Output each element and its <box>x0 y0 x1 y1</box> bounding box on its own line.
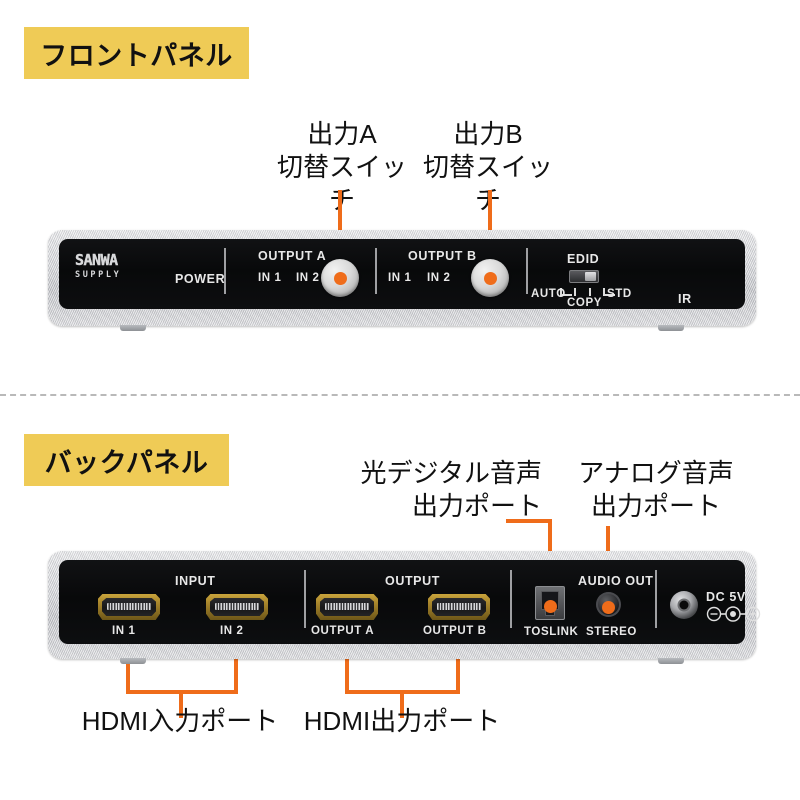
label-edid-copy: COPY <box>567 297 602 309</box>
label-output-a-in2: IN 2 <box>296 272 320 284</box>
separator-1 <box>224 248 226 294</box>
back-panel-section-tag: バックパネル <box>24 434 229 486</box>
label-in2: IN 2 <box>220 625 244 637</box>
dc-polarity-icon <box>706 606 762 622</box>
callout-hdmi-input-ports: HDMI入力ポート <box>74 705 286 738</box>
callout-output-a-switch: 出力A 切替スイッチ <box>272 118 412 216</box>
front-panel-section-tag: フロントパネル <box>24 27 249 79</box>
leader-line-optical-h <box>506 519 552 523</box>
label-audio-out-group: AUDIO OUT <box>578 574 654 588</box>
leader-dot-analog <box>602 601 615 614</box>
label-output-b-in2: IN 2 <box>427 272 451 284</box>
brand-logo-line2: SUPPLY <box>75 270 121 280</box>
back-separator-1 <box>304 570 306 628</box>
product-diagram: フロントパネル 出力A 切替スイッチ 出力B 切替スイッチ SANWA SUPP… <box>0 0 800 800</box>
label-output-group: OUTPUT <box>385 574 440 588</box>
callout-optical-audio-out: 光デジタル音声 出力ポート <box>330 457 542 523</box>
back-separator-2 <box>510 570 512 628</box>
label-edid: EDID <box>567 252 599 266</box>
label-output-a-port: OUTPUT A <box>311 625 374 637</box>
label-output-a-in1: IN 1 <box>258 272 282 284</box>
label-dc-5v: DC 5V <box>706 590 746 604</box>
label-ir-receiver: IR <box>678 292 692 306</box>
label-edid-auto: AUTO <box>531 288 566 300</box>
device-foot-right <box>658 325 684 331</box>
hdmi-port-in1[interactable] <box>98 594 160 620</box>
section-divider <box>0 394 800 396</box>
callout-analog-audio-out: アナログ音声 出力ポート <box>558 457 754 523</box>
back-device-foot-right <box>658 658 684 664</box>
label-in1: IN 1 <box>112 625 136 637</box>
brand-logo-line1: SANWA <box>75 251 121 269</box>
back-device-foot-left <box>120 658 146 664</box>
brand-logo: SANWA SUPPLY <box>75 251 121 280</box>
label-input-group: INPUT <box>175 574 216 588</box>
back-separator-3 <box>655 570 657 628</box>
label-stereo: STEREO <box>586 626 637 638</box>
edid-slide-switch[interactable] <box>569 270 599 283</box>
callout-hdmi-output-ports: HDMI出力ポート <box>296 705 508 738</box>
label-output-b: OUTPUT B <box>408 249 477 263</box>
label-output-a: OUTPUT A <box>258 249 326 263</box>
separator-3 <box>526 248 528 294</box>
label-toslink: TOSLINK <box>524 626 578 638</box>
label-output-b-port: OUTPUT B <box>423 625 487 637</box>
leader-dot-output-b <box>484 272 497 285</box>
label-edid-std: STD <box>607 288 632 300</box>
leader-dot-optical <box>544 600 557 613</box>
hdmi-port-in2[interactable] <box>206 594 268 620</box>
hdmi-port-output-a[interactable] <box>316 594 378 620</box>
hdmi-port-output-b[interactable] <box>428 594 490 620</box>
separator-2 <box>375 248 377 294</box>
back-panel-face <box>59 560 745 644</box>
label-output-b-in1: IN 1 <box>388 272 412 284</box>
leader-dot-output-a <box>334 272 347 285</box>
device-foot-left <box>120 325 146 331</box>
dc-power-jack[interactable] <box>670 591 698 619</box>
label-power: POWER <box>175 272 225 286</box>
